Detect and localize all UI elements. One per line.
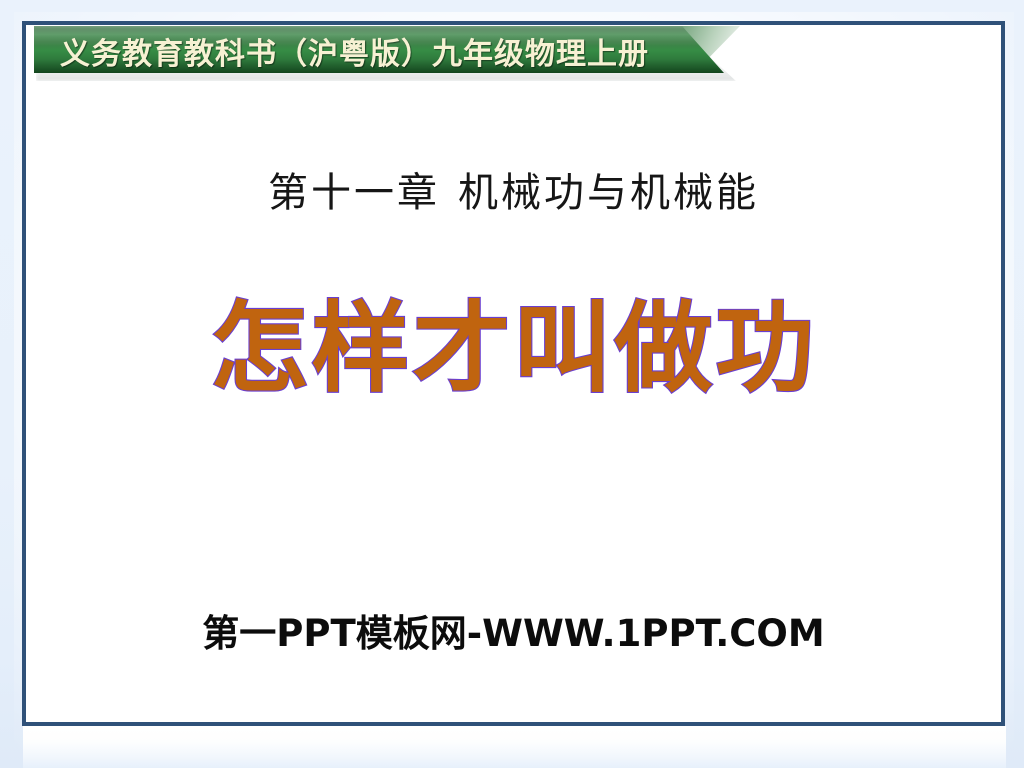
header-banner: 义务教育教科书（沪粤版）九年级物理上册 [30, 26, 742, 76]
chapter-heading: 第十一章机械功与机械能 [26, 160, 1001, 218]
slide-reflection [23, 726, 1006, 768]
chapter-number: 第十一章 [268, 170, 440, 215]
presentation-slide[interactable]: 义务教育教科书（沪粤版）九年级物理上册 第十一章机械功与机械能 怎样才叫做功 第… [22, 21, 1005, 726]
lesson-title: 怎样才叫做功 [26, 297, 1001, 403]
banner-label: 义务教育教科书（沪粤版）九年级物理上册 [60, 29, 649, 73]
chapter-name: 机械功与机械能 [458, 170, 759, 215]
site-watermark: 第一PPT模板网-WWW.1PPT.COM [26, 603, 1001, 657]
presentation-viewer: 义务教育教科书（沪粤版）九年级物理上册 第十一章机械功与机械能 怎样才叫做功 第… [0, 0, 1024, 768]
